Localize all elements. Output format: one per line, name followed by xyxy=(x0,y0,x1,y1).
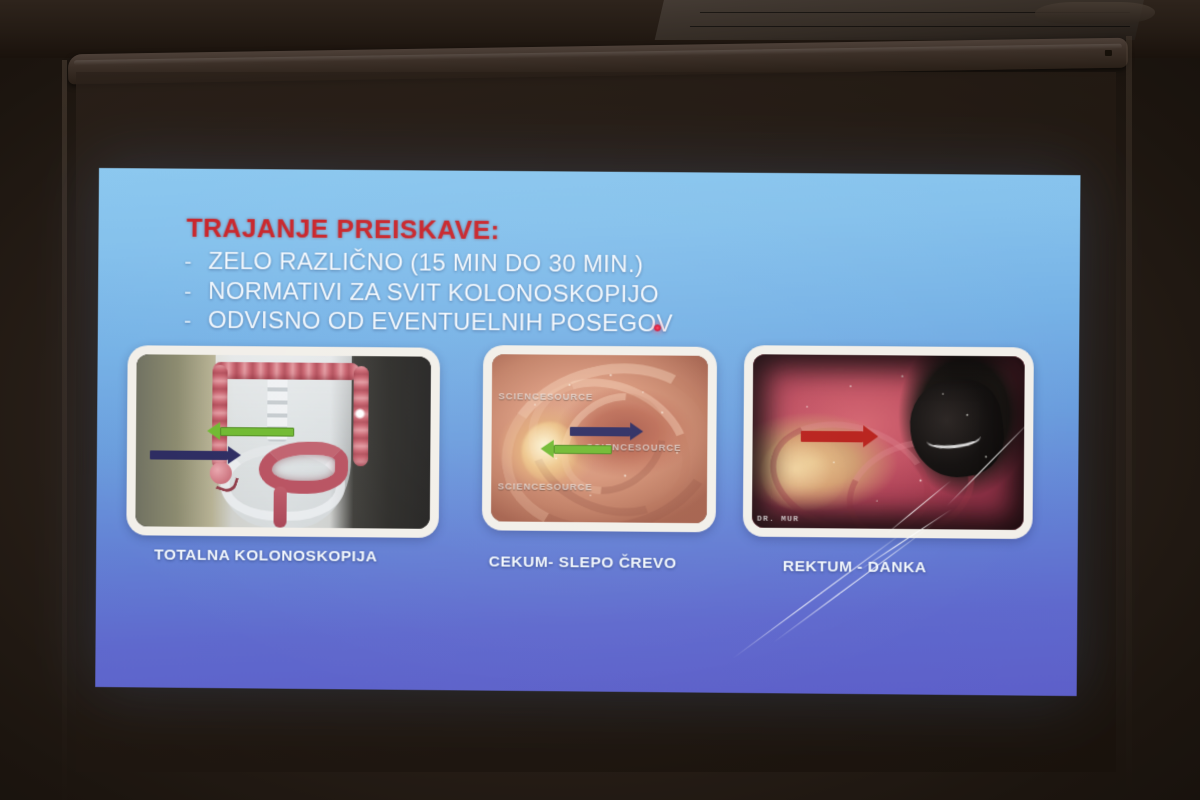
watermark-text: SCIENCESOURCE xyxy=(498,481,593,493)
bullet-text: ZELO RAZLIČNO (15 MIN DO 30 MIN.) xyxy=(208,247,643,280)
mucus-specks xyxy=(491,354,708,523)
transverse-colon xyxy=(213,362,360,380)
projected-slide: TRAJANJE PREISKAVE: - ZELO RAZLIČNO (15 … xyxy=(95,168,1080,696)
bullet-item: - ODVISNO OD EVENTUELNIH POSEGOV xyxy=(184,306,987,342)
slide-bullet-list: - ZELO RAZLIČNO (15 MIN DO 30 MIN.) - NO… xyxy=(184,247,987,342)
slide-title: TRAJANJE PREISKAVE: xyxy=(186,213,500,246)
wall-edge-right xyxy=(1126,36,1132,800)
photo-card-totalna-kolonoskopija xyxy=(126,345,440,538)
watermark-text: DR. MUR xyxy=(757,515,799,524)
photo-row: SCIENCESOURCE SCIENCESOURCE SCIENCESOURC… xyxy=(96,342,1079,581)
photo-image-endoscopy-cecum: SCIENCESOURCE SCIENCESOURCE SCIENCESOURC… xyxy=(491,354,708,523)
photo-caption: TOTALNA KOLONOSKOPIJA xyxy=(154,546,377,566)
highlight-dot xyxy=(355,408,366,419)
bullet-dash: - xyxy=(184,248,208,275)
bullet-dash: - xyxy=(184,307,208,334)
endoscope-vignette xyxy=(752,354,1025,530)
photo-card-rektum-danka: DR. MUR xyxy=(743,345,1034,539)
slide-canvas: TRAJANJE PREISKAVE: - ZELO RAZLIČNO (15 … xyxy=(95,168,1080,696)
wall-edge-left xyxy=(62,60,67,800)
rectum-illustration xyxy=(274,486,287,527)
rail-end-cap xyxy=(1105,50,1112,56)
bullet-text: NORMATIVI ZA SVIT KOLONOSKOPIJO xyxy=(208,276,659,309)
sigmoid-colon xyxy=(259,441,348,493)
bullet-dash: - xyxy=(184,277,208,304)
laser-pointer-dot xyxy=(654,324,661,331)
photo-caption: REKTUM - DANKA xyxy=(783,558,927,577)
ceiling-seam xyxy=(690,26,1130,27)
photo-image-anatomical-colon xyxy=(135,354,431,529)
photo-caption: CEKUM- SLEPO ČREVO xyxy=(489,553,677,573)
photo-image-endoscopy-rectum: DR. MUR xyxy=(752,354,1025,530)
ceiling-light-fixture xyxy=(1033,2,1157,24)
dark-room-background: TRAJANJE PREISKAVE: - ZELO RAZLIČNO (15 … xyxy=(0,0,1200,800)
watermark-text: SCIENCESOURCE xyxy=(498,391,593,403)
photo-card-cekum-slepo-crevo: SCIENCESOURCE SCIENCESOURCE SCIENCESOURC… xyxy=(482,345,717,532)
bullet-text: ODVISNO OD EVENTUELNIH POSEGOV xyxy=(208,306,673,339)
